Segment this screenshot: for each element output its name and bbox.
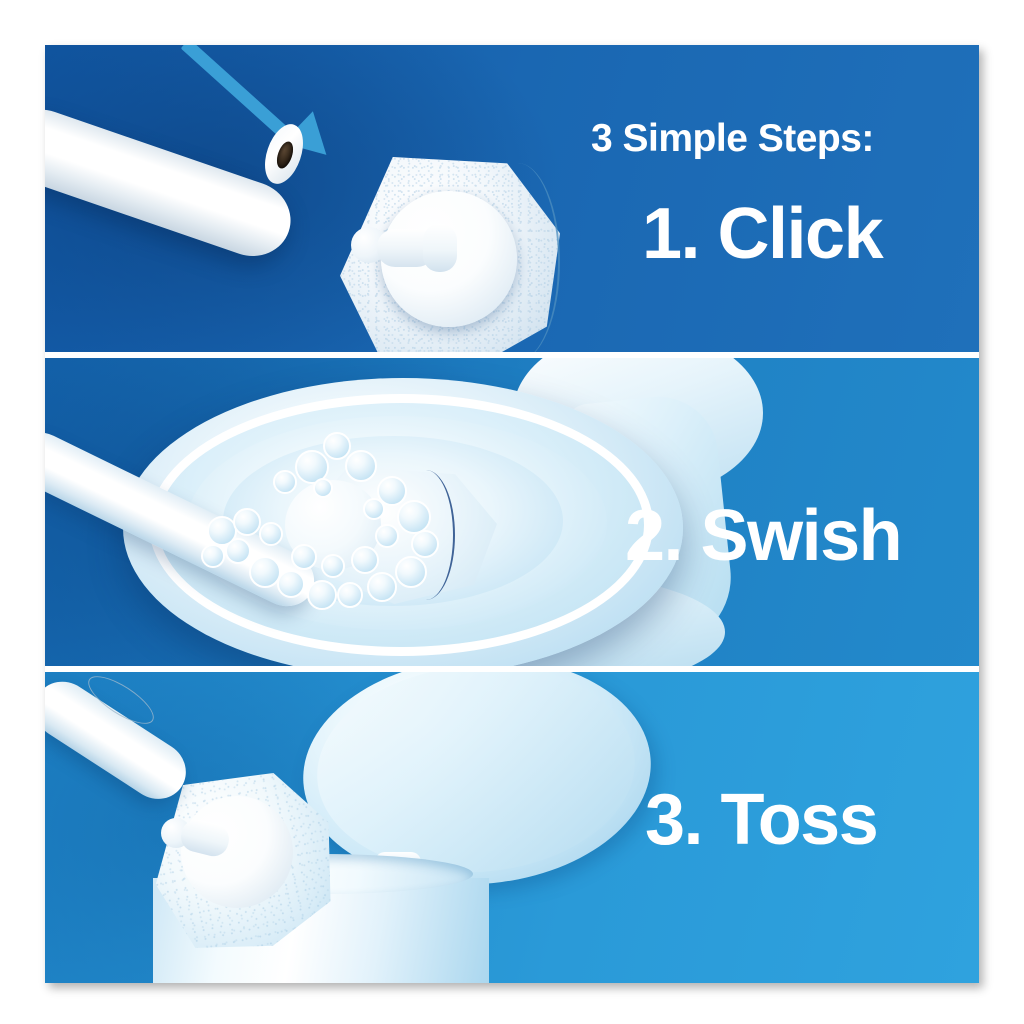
foam-bubble — [367, 572, 397, 602]
foam-bubble — [201, 544, 225, 568]
foam-bubble — [323, 432, 351, 460]
step-2-label: 2. Swish — [625, 495, 901, 577]
three-simple-steps-poster: 3 Simple Steps: 1. Click — [45, 45, 979, 983]
poster-headline: 3 Simple Steps: — [591, 117, 874, 161]
step-panel-click: 3 Simple Steps: 1. Click — [45, 45, 979, 352]
foam-bubble — [233, 508, 261, 536]
foam-bubble — [249, 556, 281, 588]
foam-bubble — [397, 500, 431, 534]
step-1-label: 1. Click — [642, 193, 882, 275]
foam-bubble — [277, 570, 305, 598]
step-panel-toss: 3. Toss — [45, 672, 979, 983]
foam-bubble — [337, 582, 363, 608]
step-3-label: 3. Toss — [645, 779, 877, 861]
foam-bubble — [363, 498, 385, 520]
foam-bubble — [259, 522, 283, 546]
foam-bubble — [395, 556, 427, 588]
pad-connector-nub-c — [423, 224, 457, 272]
foam-bubble — [273, 470, 297, 494]
foam-bubble — [345, 450, 377, 482]
panel-divider-1 — [45, 352, 979, 358]
panel-divider-2 — [45, 666, 979, 672]
foam-bubble — [321, 554, 345, 578]
foam-bubble — [411, 530, 439, 558]
foam-bubble — [351, 546, 379, 574]
foam-bubble — [313, 478, 333, 498]
foam-bubble — [291, 544, 317, 570]
step-panel-swish: 2. Swish — [45, 358, 979, 666]
foam-bubble — [307, 580, 337, 610]
foam-bubble — [375, 524, 399, 548]
